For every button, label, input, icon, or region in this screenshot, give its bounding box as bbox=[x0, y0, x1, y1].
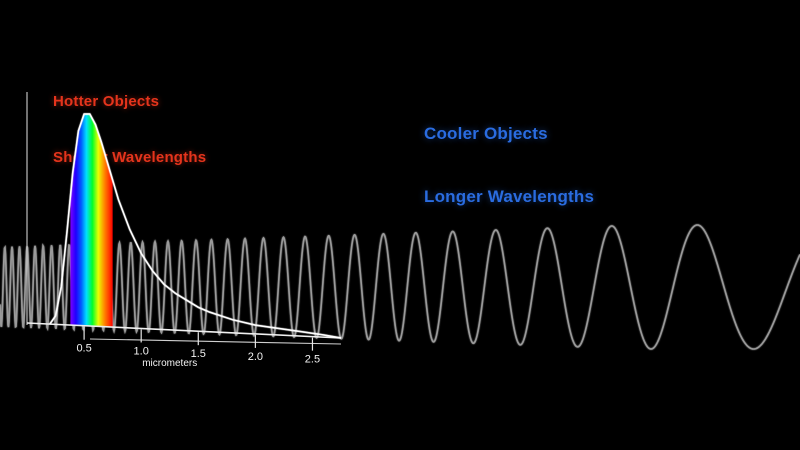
x-axis-ticks: 0.51.01.52.02.5 bbox=[76, 327, 320, 366]
blackbody-plot: 0.51.01.52.02.5 micrometers bbox=[0, 0, 800, 450]
x-tick-label: 2.5 bbox=[305, 354, 320, 366]
x-tick-label: 0.5 bbox=[76, 343, 91, 355]
illustration-canvas: 0.51.01.52.02.5 micrometers Hotter Objec… bbox=[0, 0, 800, 450]
x-axis-title: micrometers bbox=[142, 358, 197, 369]
x-tick-label: 2.0 bbox=[248, 351, 263, 363]
x-axis-secondary bbox=[90, 339, 341, 344]
x-tick-label: 1.0 bbox=[134, 345, 149, 357]
